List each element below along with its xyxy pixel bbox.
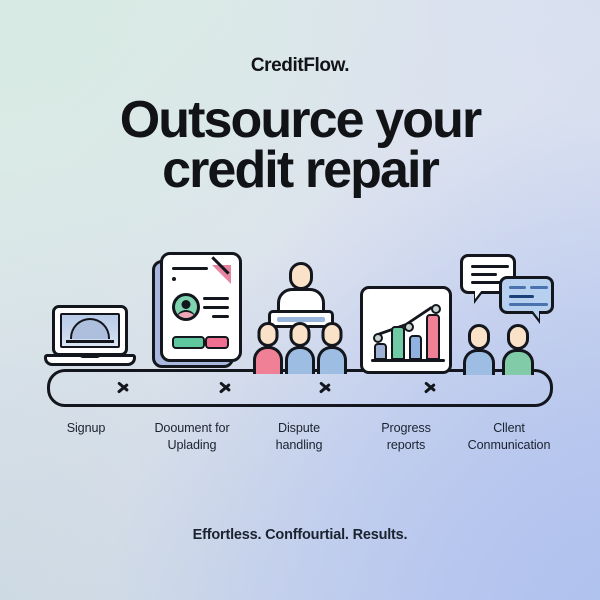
document-card-icon: [152, 252, 242, 374]
step-label-progress: Progress reports: [356, 420, 456, 454]
chat-bubbles-icon: [460, 252, 556, 374]
person-body: [317, 346, 347, 374]
chart-point: [373, 333, 383, 343]
chat-text-line: [471, 273, 497, 276]
podium-bar: [277, 317, 325, 322]
step-label-document: Dooument for Uplading: [134, 420, 250, 454]
person-body: [463, 349, 495, 375]
person-head: [322, 322, 343, 347]
timeline-arrow-icon: [117, 379, 133, 396]
laptop-icon: [44, 305, 136, 373]
step-label-line-1: Dooument for: [134, 420, 250, 437]
presenter-head: [289, 262, 313, 290]
step-label-communication: Cllent Conmunication: [447, 420, 571, 454]
document-text-line: [203, 306, 229, 309]
avatar-body: [176, 310, 196, 321]
document-primary-button: [172, 336, 205, 349]
person-head: [507, 324, 529, 350]
chart-bar: [409, 335, 422, 360]
step-label-line-1: Dispute: [247, 420, 351, 437]
step-label-line-2: reports: [356, 437, 456, 454]
chart-point: [404, 322, 414, 332]
audience-person: [317, 322, 347, 374]
client-person: [463, 324, 495, 374]
chart-bar: [426, 314, 440, 360]
client-person: [502, 324, 534, 374]
person-head: [468, 324, 490, 350]
chart-bar: [391, 326, 405, 360]
person-head: [290, 322, 311, 347]
step-label-signup: Signup: [36, 420, 136, 437]
step-label-line-2: Uplading: [134, 437, 250, 454]
step-label-line-1: Cllent: [447, 420, 571, 437]
step-label-line-2: Conmunication: [447, 437, 571, 454]
brand-logo: CreditFlow.: [0, 55, 600, 77]
chat-bubble-tail-fill: [475, 290, 482, 299]
chat-text-line: [509, 303, 548, 306]
document-text-line: [212, 315, 229, 318]
audience-person: [285, 322, 315, 374]
chart-bar: [374, 343, 387, 360]
audience-icon: [253, 262, 348, 374]
headline-line-2: credit repair: [0, 146, 600, 196]
laptop-desk-line: [66, 340, 114, 343]
laptop-arch-shape: [70, 318, 110, 339]
chart-card: [360, 286, 452, 374]
page-title: Outsource your credit repair: [0, 96, 600, 196]
chat-text-line: [509, 295, 534, 298]
document-avatar-icon: [172, 293, 200, 321]
step-label-line-1: Progress: [356, 420, 456, 437]
person-head: [258, 322, 279, 347]
step-label-line-1: Signup: [36, 420, 136, 437]
headline-line-1: Outsource your: [0, 96, 600, 146]
document-bullet-dot: [172, 277, 176, 281]
laptop-screen: [52, 305, 128, 356]
chat-text-line: [471, 265, 509, 268]
chat-bubble-tail-fill: [532, 310, 539, 319]
person-body: [253, 346, 283, 374]
document-secondary-button: [205, 336, 229, 349]
laptop-screen-content: [60, 313, 120, 348]
bar-chart-icon: [360, 286, 452, 374]
person-body: [285, 346, 315, 374]
chat-text-line: [530, 286, 548, 289]
avatar-head: [182, 300, 191, 309]
process-illustration: Signup Dooument for Uplading Dispute han…: [0, 230, 600, 480]
footer-tagline: Effortless. Conffourtial. Results.: [0, 527, 600, 543]
poster-canvas: CreditFlow. Outsource your credit repair: [0, 0, 600, 600]
chat-bubble-blue: [499, 276, 554, 314]
chat-text-line: [509, 286, 526, 289]
chart-point: [431, 304, 441, 314]
person-body: [502, 349, 534, 375]
document-text-line: [203, 297, 229, 300]
laptop-notch: [79, 354, 101, 358]
chart-axis: [371, 359, 445, 362]
document-front-card: [160, 252, 242, 362]
step-label-line-2: handling: [247, 437, 351, 454]
timeline-arrow-icon: [219, 379, 235, 396]
audience-person: [253, 322, 283, 374]
timeline-arrow-icon: [424, 379, 440, 396]
timeline-arrow-icon: [319, 379, 335, 396]
document-header-line: [172, 267, 208, 270]
step-label-dispute: Dispute handling: [247, 420, 351, 454]
